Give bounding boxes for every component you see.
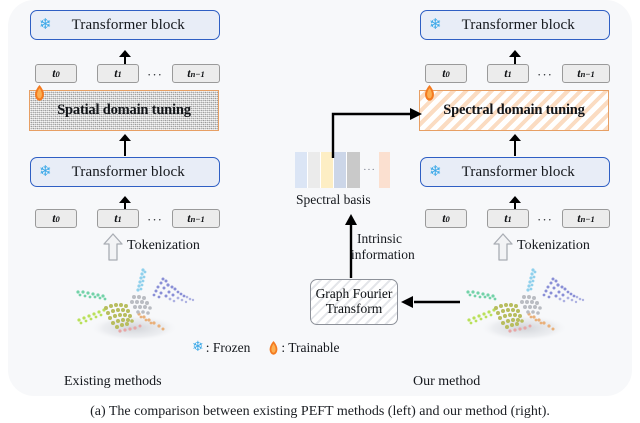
left-tokenization-arrow-icon (103, 233, 123, 261)
right-upper-token-n: tn−1 (562, 64, 610, 83)
legend-frozen-label: : Frozen (206, 340, 251, 356)
right-lower-token-1: t1 (487, 209, 529, 228)
right-lower-token-0: t0 (425, 209, 467, 228)
left-lower-token-1: t1 (97, 209, 139, 228)
flame-icon (268, 341, 279, 355)
intrinsic-information-label-2: information (351, 247, 415, 262)
left-lower-token-n: tn−1 (172, 209, 220, 228)
left-top-transformer-label: Transformer block (58, 17, 219, 34)
intrinsic-information-label: Intrinsic (357, 231, 402, 246)
snowflake-icon: ❄ (192, 341, 204, 355)
gft-line-1: Graph Fourier (316, 287, 393, 302)
flame-icon (423, 85, 436, 101)
intrinsic-information-arrow (344, 214, 358, 278)
spatial-domain-tuning-block[interactable]: Spatial domain tuning (29, 90, 219, 131)
spectral-basis-label: Spectral basis (296, 192, 371, 208)
right-bottom-transformer-block[interactable]: ❄ Transformer block (420, 157, 610, 187)
left-tokenization-label: Tokenization (127, 238, 200, 254)
snowflake-icon: ❄ (429, 18, 442, 33)
right-top-transformer-block[interactable]: ❄ Transformer block (420, 10, 610, 40)
right-upper-token-ellipsis: ··· (537, 67, 553, 83)
legend-trainable: : Trainable (268, 340, 339, 356)
legend-frozen: ❄ : Frozen (192, 340, 250, 356)
right-arrow-bottom-to-tuning (509, 134, 521, 156)
left-lower-token-ellipsis: ··· (147, 212, 163, 228)
left-top-transformer-block[interactable]: ❄ Transformer block (30, 10, 220, 40)
right-upper-token-0: t0 (425, 64, 467, 83)
snowflake-icon: ❄ (429, 165, 442, 180)
pointcloud-to-gft-arrow (400, 294, 462, 310)
left-method-title: Existing methods (64, 374, 162, 390)
flame-icon (33, 85, 46, 101)
right-tokenization-label: Tokenization (517, 238, 590, 254)
right-method-title: Our method (413, 374, 480, 390)
left-lower-token-0: t0 (35, 209, 77, 228)
figure-stage: ❄ Transformer block t0 t1 ··· tn−1 Spati… (0, 0, 640, 423)
spectral-basis-bar-0 (295, 152, 308, 188)
gft-line-2: Transform (316, 302, 393, 317)
left-upper-token-ellipsis: ··· (147, 67, 163, 83)
right-tokenization-arrow-icon (493, 233, 513, 261)
left-bottom-transformer-label: Transformer block (58, 164, 219, 181)
left-point-cloud (62, 262, 202, 350)
left-arrow-bottom-to-tuning (119, 134, 131, 156)
graph-fourier-transform-box[interactable]: Graph Fourier Transform (310, 279, 398, 325)
legend: ❄ : Frozen : Trainable (192, 340, 340, 356)
left-bottom-transformer-block[interactable]: ❄ Transformer block (30, 157, 220, 187)
legend-trainable-label: : Trainable (281, 340, 339, 356)
spectral-domain-tuning-label: Spectral domain tuning (443, 102, 584, 119)
figure-caption: (a) The comparison between existing PEFT… (0, 404, 640, 423)
basis-to-spectral-tuning-connector (330, 100, 426, 160)
right-lower-token-ellipsis: ··· (537, 212, 553, 228)
spectral-basis-ellipsis: ··· (360, 164, 379, 176)
left-upper-token-0: t0 (35, 64, 77, 83)
right-upper-token-1: t1 (487, 64, 529, 83)
snowflake-icon: ❄ (39, 18, 52, 33)
spatial-domain-tuning-label: Spatial domain tuning (57, 102, 191, 119)
snowflake-icon: ❄ (39, 165, 52, 180)
right-point-cloud (452, 262, 592, 350)
right-top-transformer-label: Transformer block (448, 17, 609, 34)
left-upper-token-n: tn−1 (172, 64, 220, 83)
left-upper-token-1: t1 (97, 64, 139, 83)
spectral-domain-tuning-block[interactable]: Spectral domain tuning (419, 90, 609, 131)
right-bottom-transformer-label: Transformer block (448, 164, 609, 181)
right-lower-token-n: tn−1 (562, 209, 610, 228)
spectral-basis-bar-1 (308, 152, 321, 188)
